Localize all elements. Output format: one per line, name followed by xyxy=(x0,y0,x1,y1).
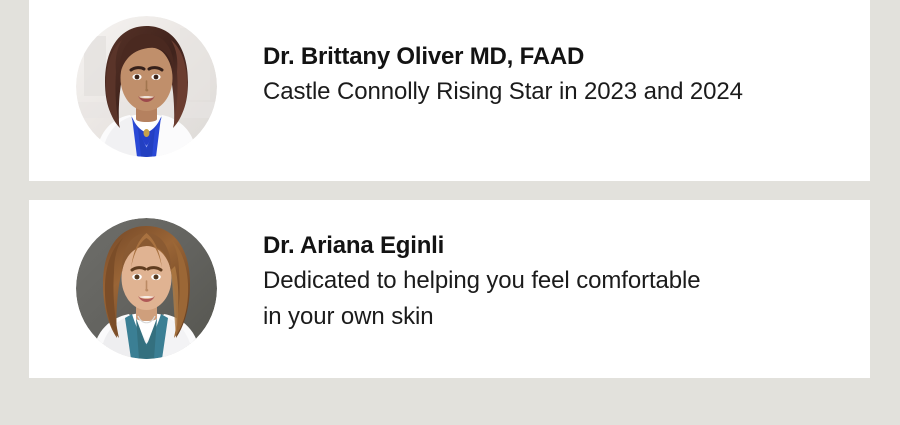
profile-text-block: Dr. Brittany Oliver MD, FAAD Castle Conn… xyxy=(263,40,850,110)
profile-card-content: Dr. Brittany Oliver MD, FAAD Castle Conn… xyxy=(29,0,870,181)
doctor-name: Dr. Brittany Oliver MD, FAAD xyxy=(263,40,850,74)
profile-card[interactable]: Dr. Ariana Eginli Dedicated to helping y… xyxy=(29,200,870,378)
doctor-tagline: Castle Connolly Rising Star in 2023 and … xyxy=(263,74,823,110)
doctor-tagline-line-1: Dedicated to helping you feel comfortabl… xyxy=(263,263,823,299)
doctor-portrait-avatar xyxy=(76,16,217,157)
profile-card-list: Dr. Brittany Oliver MD, FAAD Castle Conn… xyxy=(0,0,900,425)
profile-card[interactable]: Dr. Brittany Oliver MD, FAAD Castle Conn… xyxy=(29,0,870,181)
doctor-portrait-avatar xyxy=(76,218,217,359)
profile-text-block: Dr. Ariana Eginli Dedicated to helping y… xyxy=(263,229,850,335)
doctor-tagline-line-2: in your own skin xyxy=(263,299,823,335)
profile-card-content: Dr. Ariana Eginli Dedicated to helping y… xyxy=(29,200,870,378)
doctor-name: Dr. Ariana Eginli xyxy=(263,229,850,263)
